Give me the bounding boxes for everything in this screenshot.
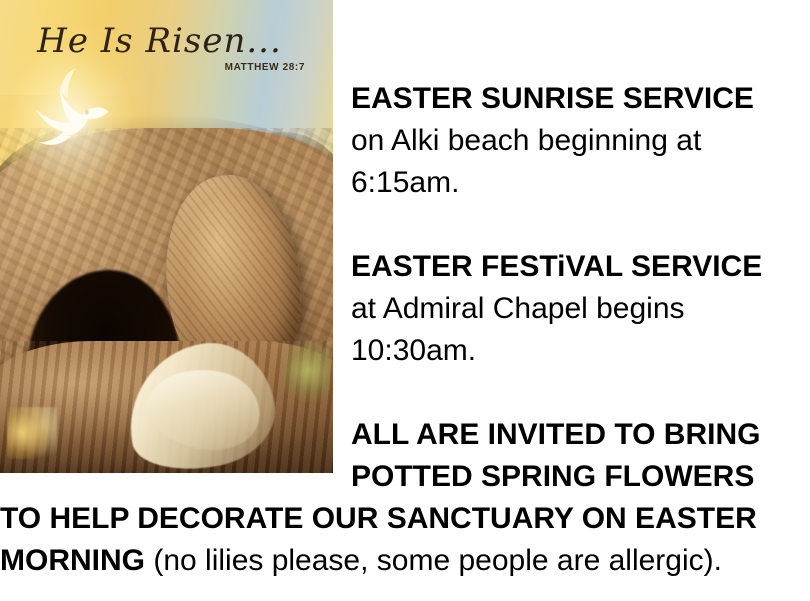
festival-service-heading: EASTER FESTiVAL SERVICE [351,250,762,283]
flowers-left [7,407,57,459]
flowers-invitation-note: (no lilies please, some people are aller… [145,544,722,577]
dove-icon [23,66,113,161]
festival-service-details: at Admiral Chapel begins 10:30am. [351,292,685,367]
foliage-right [283,341,330,407]
sunrise-service-heading: EASTER SUNRISE SERVICE [351,82,754,115]
easter-announcement-poster: He Is Risen... MATTHEW 28:7 EASTER SUNRI… [0,0,810,601]
sunrise-service-details: on Alki beach beginning at 6:15am. [351,124,701,199]
easter-empty-tomb-image: He Is Risen... MATTHEW 28:7 [0,0,333,473]
